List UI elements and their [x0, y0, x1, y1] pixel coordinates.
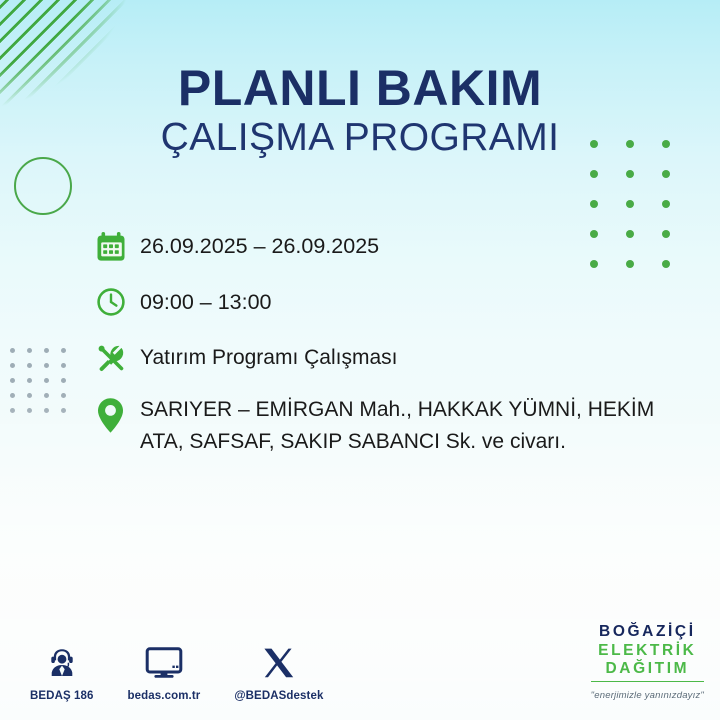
poster-header: PLANLI BAKIM ÇALIŞMA PROGRAMI: [0, 62, 720, 159]
contact-x-label: @BEDASdestek: [234, 690, 323, 702]
brand-line-3: DAĞITIM: [591, 661, 704, 677]
contact-x[interactable]: @BEDASdestek: [234, 643, 323, 704]
work-type-text: Yatırım Programı Çalışması: [140, 338, 398, 373]
brand-line-1: BOĞAZİÇİ: [591, 624, 704, 640]
footer-contact-links: BEDAŞ 186 bedas.com.tr @BEDASdestek: [30, 643, 323, 704]
detail-row-location: SARIYER – EMİRGAN Mah., HAKKAK YÜMNİ, HE…: [96, 394, 656, 458]
planned-maintenance-poster: PLANLI BAKIM ÇALIŞMA PROGRAMI: [0, 0, 720, 720]
clock-icon: [96, 282, 140, 322]
brand-line-2: ELEKTRİK: [591, 643, 704, 659]
support-agent-icon: [30, 643, 94, 679]
location-text: SARIYER – EMİRGAN Mah., HAKKAK YÜMNİ, HE…: [140, 394, 656, 458]
detail-row-date: 26.09.2025 – 26.09.2025: [96, 226, 656, 266]
tools-icon: [96, 338, 140, 378]
circle-outline-decoration: [14, 157, 72, 215]
contact-phone-label: BEDAŞ 186: [30, 690, 94, 702]
brand-divider: [591, 681, 704, 683]
contact-website[interactable]: bedas.com.tr: [128, 643, 201, 704]
monitor-icon: [128, 643, 201, 679]
maintenance-details: 26.09.2025 – 26.09.2025 09:00 – 13:00: [96, 226, 656, 458]
contact-website-label: bedas.com.tr: [128, 690, 201, 702]
x-twitter-icon: [234, 643, 323, 679]
dot-grid-left-decoration: [10, 348, 78, 423]
detail-row-time: 09:00 – 13:00: [96, 282, 656, 322]
time-range-text: 09:00 – 13:00: [140, 282, 272, 318]
page-title: PLANLI BAKIM: [0, 62, 720, 114]
page-subtitle: ÇALIŞMA PROGRAMI: [0, 118, 720, 159]
brand-tagline: "enerjimizle yanınızdayız": [591, 690, 704, 701]
date-range-text: 26.09.2025 – 26.09.2025: [140, 226, 379, 262]
detail-row-work-type: Yatırım Programı Çalışması: [96, 338, 656, 378]
calendar-icon: [96, 226, 140, 266]
brand-logo: BOĞAZİÇİ ELEKTRİK DAĞITIM "enerjimizle y…: [591, 624, 704, 702]
contact-phone[interactable]: BEDAŞ 186: [30, 643, 94, 704]
map-pin-icon: [96, 394, 140, 434]
